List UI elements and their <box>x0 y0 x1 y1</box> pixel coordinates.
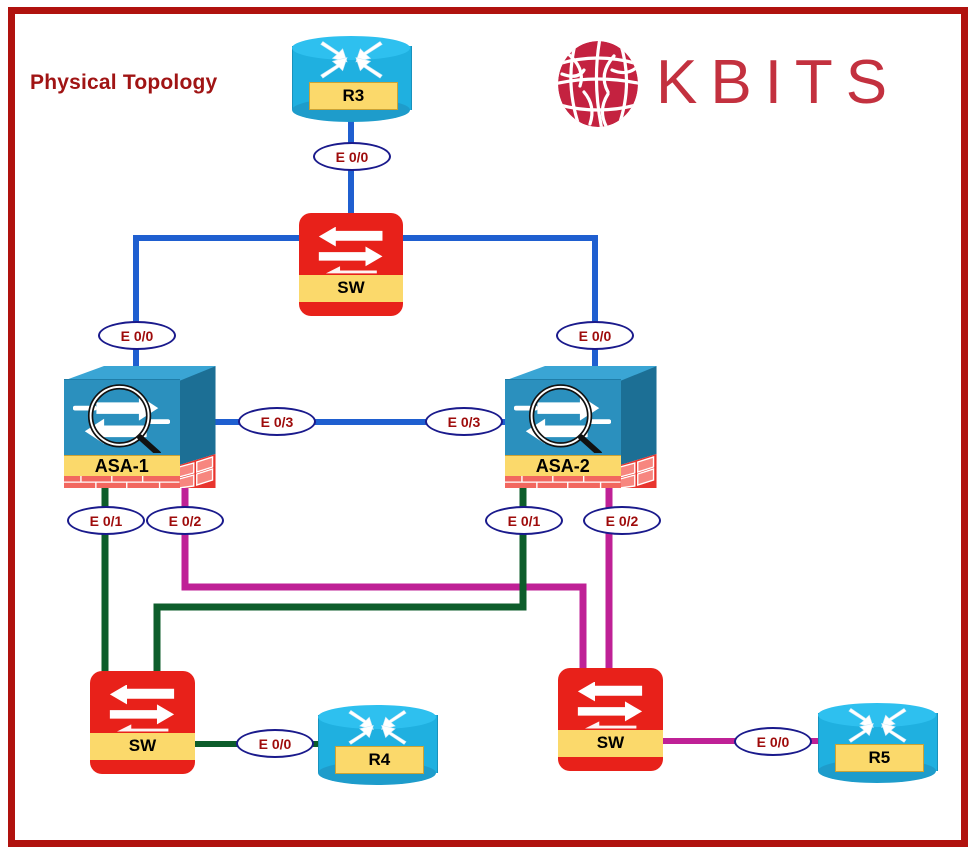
device-label-sw-top: SW <box>299 275 403 302</box>
device-r5[interactable]: R5 <box>818 703 936 783</box>
asa-side-face <box>617 366 657 488</box>
interface-label-asa1-e03[interactable]: E 0/3 <box>238 407 316 436</box>
device-label-asa1: ASA-1 <box>64 455 180 477</box>
interface-label-asa2-e02[interactable]: E 0/2 <box>583 506 661 535</box>
device-asa2[interactable]: ASA-2 <box>505 366 657 488</box>
switch-arrows-icon <box>575 682 646 729</box>
interface-label-r3-e00[interactable]: E 0/0 <box>313 142 391 171</box>
interface-label-asa2-e01[interactable]: E 0/1 <box>485 506 563 535</box>
device-label-r4: R4 <box>335 746 425 774</box>
device-sw-top[interactable]: SW <box>299 213 403 316</box>
device-sw-bottom-right[interactable]: SW <box>558 668 663 771</box>
device-asa1[interactable]: ASA-1 <box>64 366 216 488</box>
switch-body: SW <box>299 213 403 316</box>
device-label-sw-bottom-right: SW <box>558 730 663 757</box>
interface-label-asa1-e02[interactable]: E 0/2 <box>146 506 224 535</box>
device-label-sw-bottom-left: SW <box>90 733 195 760</box>
interface-label-asa2-e00[interactable]: E 0/0 <box>556 321 634 350</box>
device-label-r5: R5 <box>835 744 925 772</box>
device-r3[interactable]: R3 <box>292 36 410 122</box>
asa-front-face <box>64 379 180 456</box>
asa-side-face <box>176 366 216 488</box>
interface-label-asa1-e01[interactable]: E 0/1 <box>67 506 145 535</box>
asa-front-face <box>505 379 621 456</box>
switch-arrows-icon <box>107 685 178 732</box>
asa-magnifier-icon <box>514 383 611 453</box>
interface-label-asa2-e03[interactable]: E 0/3 <box>425 407 503 436</box>
device-r4[interactable]: R4 <box>318 705 436 785</box>
interface-label-r4-e00[interactable]: E 0/0 <box>236 729 314 758</box>
device-sw-bottom-left[interactable]: SW <box>90 671 195 774</box>
device-label-asa2: ASA-2 <box>505 455 621 477</box>
interface-label-r5-e00[interactable]: E 0/0 <box>734 727 812 756</box>
interface-label-asa1-e00[interactable]: E 0/0 <box>98 321 176 350</box>
topology-canvas: Physical Topology <box>0 0 978 858</box>
switch-body: SW <box>558 668 663 771</box>
asa-brick-base <box>505 476 621 488</box>
switch-body: SW <box>90 671 195 774</box>
link-sw-top-to-asa2 <box>403 238 595 377</box>
link-sw-top-to-asa1 <box>136 238 300 377</box>
router-arrows-icon <box>835 707 920 744</box>
device-label-r3: R3 <box>309 82 399 110</box>
asa-brick-base <box>64 476 180 488</box>
switch-arrows-icon <box>316 227 387 274</box>
router-arrows-icon <box>335 709 420 746</box>
router-arrows-icon <box>309 40 394 80</box>
asa-magnifier-icon <box>73 383 170 453</box>
